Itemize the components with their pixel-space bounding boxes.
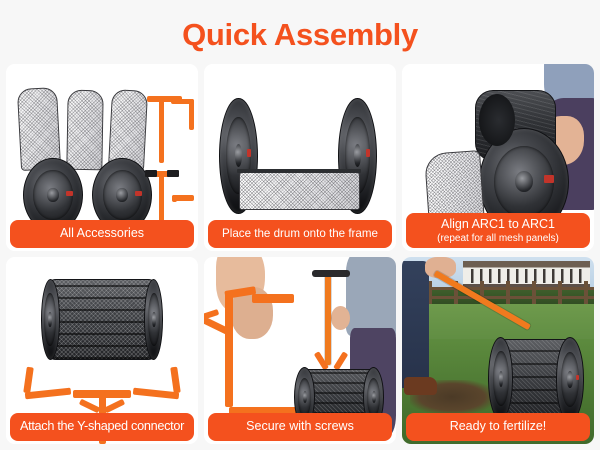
y-connector-brace xyxy=(104,399,126,414)
spreader-handle xyxy=(325,276,331,366)
step-caption-text: Place the drum onto the frame xyxy=(222,227,378,240)
y-connector-arm xyxy=(25,387,72,399)
screw-tip-icon xyxy=(167,170,179,177)
drum-rim-icon xyxy=(237,169,362,174)
step-card-6[interactable]: Ready to fertilize! xyxy=(402,257,594,444)
step-card-4[interactable]: Attach the Y-shaped connector xyxy=(6,257,198,444)
person-shirt xyxy=(346,257,396,336)
step-caption-6: Ready to fertilize! xyxy=(406,413,590,441)
page-title: Quick Assembly xyxy=(0,17,600,53)
t-bar-icon xyxy=(159,96,164,163)
y-connector-brace xyxy=(79,399,101,414)
step-caption-text: Align ARC1 to ARC1 xyxy=(441,217,555,231)
y-connector-arm xyxy=(132,387,179,399)
step-caption-5: Secure with screws xyxy=(208,413,392,441)
quick-assembly-infographic: Quick Assembly xyxy=(0,0,600,450)
step-card-2[interactable]: Place the drum onto the frame xyxy=(204,64,396,251)
fence xyxy=(402,281,594,305)
assembled-drum xyxy=(46,279,157,359)
spreader-grip xyxy=(312,270,350,277)
y-connector-arm xyxy=(23,367,33,394)
y-connector-arm xyxy=(171,367,181,394)
mesh-panel-icon xyxy=(239,172,360,209)
step-caption-4: Attach the Y-shaped connector xyxy=(10,413,194,441)
person-shoe xyxy=(404,377,437,396)
step-caption-subtext: (repeat for all mesh panels) xyxy=(408,234,588,245)
spreader-yoke xyxy=(333,351,348,370)
step-caption-text: Attach the Y-shaped connector xyxy=(20,419,184,433)
step-caption-text: All Accessories xyxy=(60,226,144,240)
l-bar-icon xyxy=(172,195,177,202)
drum-end-cap xyxy=(556,337,585,421)
drum-end-cap xyxy=(41,279,60,359)
step-caption-3: Align ARC1 to ARC1 (repeat for all mesh … xyxy=(406,213,590,248)
screw-tip-icon xyxy=(145,170,157,177)
drum-end-cap xyxy=(144,279,163,359)
steps-grid: All Accessories Place the drum onto the … xyxy=(6,64,594,444)
step-card-1[interactable]: All Accessories xyxy=(6,64,198,251)
step-caption-2: Place the drum onto the frame xyxy=(208,220,392,248)
mesh-panel-icon xyxy=(67,90,105,171)
step-caption-1: All Accessories xyxy=(10,220,194,248)
orange-frame-arm xyxy=(225,291,233,407)
step-caption-text: Secure with screws xyxy=(246,419,354,433)
step-caption-text: Ready to fertilize! xyxy=(450,419,547,433)
orange-frame-arm xyxy=(252,294,294,302)
l-bar-icon xyxy=(189,99,194,131)
hand-icon xyxy=(331,306,350,330)
step-card-5[interactable]: Secure with screws xyxy=(204,257,396,444)
person-leg xyxy=(402,261,429,388)
step-card-3[interactable]: Align ARC1 to ARC1 (repeat for all mesh … xyxy=(402,64,594,251)
